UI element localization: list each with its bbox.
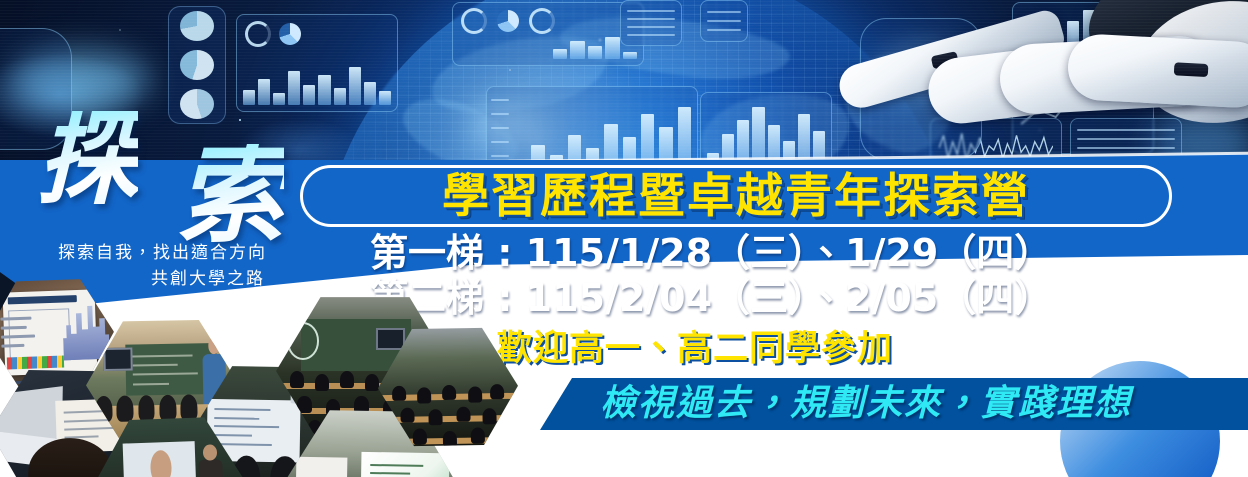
- event-title-pill: 學習歷程暨卓越青年探索營: [300, 165, 1172, 227]
- welcome-note: 歡迎高一、高二同學參加: [497, 320, 893, 371]
- bar-chart-hud-panel: [236, 14, 398, 112]
- data-lines: [627, 7, 675, 39]
- wall-seal: [287, 322, 319, 360]
- presenter-figure: [198, 459, 224, 477]
- seminar-slide: [360, 452, 450, 477]
- robot-finger: [1066, 33, 1248, 109]
- lecture-monitor: [376, 328, 405, 350]
- logo-char-tan: 探: [36, 111, 138, 207]
- ring-chart-icon: [245, 21, 271, 47]
- ring-chart-icon: [529, 8, 555, 34]
- dashboard-hud-panel: [452, 2, 644, 66]
- data-lines: [707, 7, 741, 35]
- photo-collage: [0, 268, 506, 477]
- slogan-line-1: 探索自我，找出適合方向: [58, 243, 267, 262]
- tagline-text: 檢視過去，規劃未來，實踐理想: [600, 382, 1132, 426]
- pie-chart-icon: [497, 10, 519, 32]
- event-title: 學習歷程暨卓越青年探索營: [442, 173, 1030, 220]
- wall-monitor: [104, 348, 133, 371]
- grid-hud-panel: [620, 0, 682, 46]
- booklet-books: [7, 356, 64, 369]
- ring-chart-icon: [461, 8, 487, 34]
- pie-chart-icon: [180, 50, 214, 80]
- whiteboard: [296, 456, 348, 477]
- logo-char-suo: 索: [176, 144, 284, 245]
- cloud-hud-panel: [700, 0, 748, 42]
- pie-chart-icon: [279, 23, 301, 45]
- pie-chart-icon: [180, 11, 214, 41]
- event-banner: 探索 探索自我，找出適合方向 共創大學之路 學習歷程暨卓越青年探索營 第一梯 :…: [0, 0, 1248, 477]
- event-logo: 探索: [36, 106, 284, 207]
